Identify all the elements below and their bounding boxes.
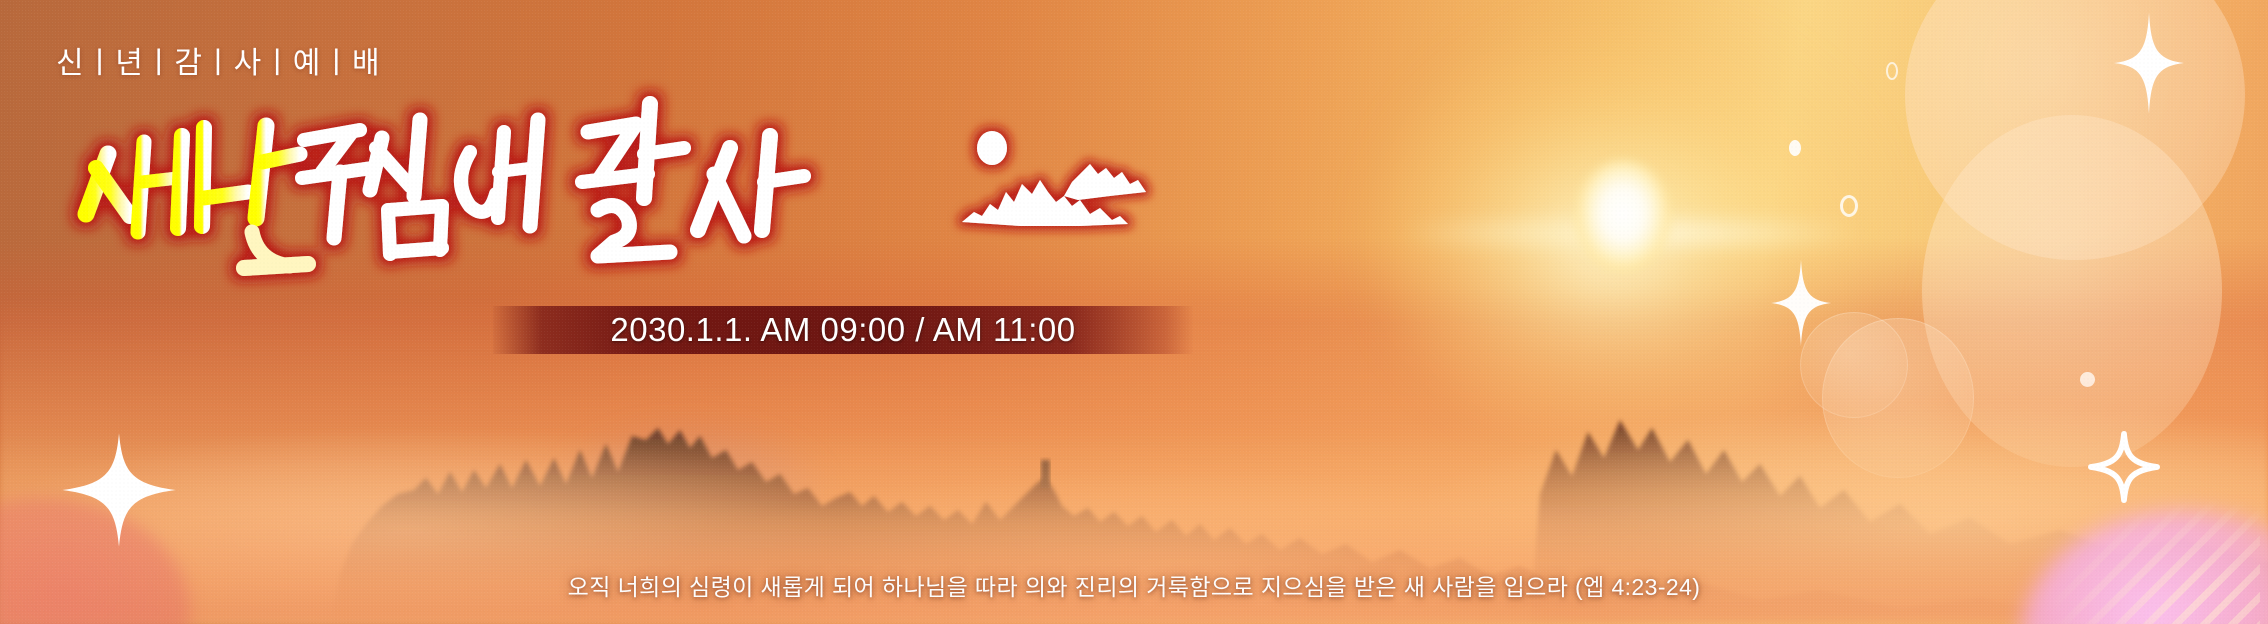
sparkle-star-icon [2113, 10, 2185, 116]
banner-root: 신ㅣ년ㅣ감ㅣ사ㅣ예ㅣ배 [0, 0, 2268, 624]
sparkle-star-icon [1770, 255, 1832, 351]
bokeh-dot-icon [1789, 140, 1801, 156]
mountain-ridge-scene [0, 244, 2268, 624]
bokeh-ring-icon [1886, 62, 1898, 80]
subtitle-text: 신ㅣ년ㅣ감ㅣ사ㅣ예ㅣ배 [56, 38, 382, 82]
date-time-bar: 2030.1.1. AM 09:00 / AM 11:00 [493, 306, 1193, 354]
date-time-text: 2030.1.1. AM 09:00 / AM 11:00 [610, 311, 1075, 349]
mountain-sun-icon [960, 130, 1140, 220]
verse-text: 오직 너희의 심령이 새롭게 되어 하나님을 따라 의와 진리의 거룩함으로 지… [0, 568, 2268, 602]
bokeh-ring-icon [1840, 195, 1858, 217]
diagonal-stripes-icon [2050, 500, 2260, 624]
main-title [52, 86, 1352, 226]
sparkle-star-icon [60, 430, 178, 550]
sparkle-star-outline-icon [2088, 430, 2160, 504]
